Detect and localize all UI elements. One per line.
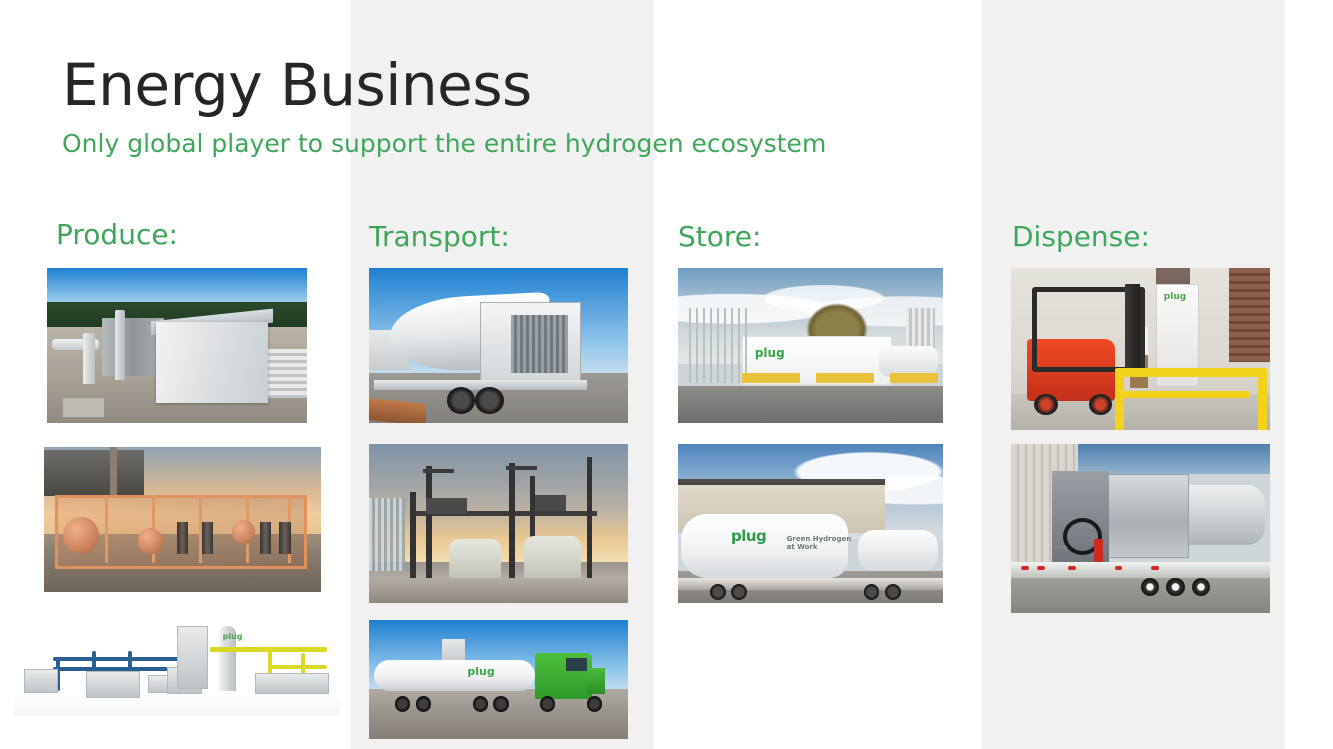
plug-logo-dispenser: plug <box>1164 292 1186 302</box>
plug-logo-store-site: plug <box>755 346 785 360</box>
plug-logo-truck: plug <box>467 665 494 678</box>
column-heading-store: Store: <box>678 222 978 253</box>
photo-plug-green-semi-truck: plug <box>369 620 628 739</box>
photo-hydrogen-plant-3d-render: plug <box>14 618 340 716</box>
column-heading-dispense: Dispense: <box>1012 222 1312 253</box>
column-transport: Transport: <box>369 222 669 253</box>
photo-skid-mounted-electrolyzer-sunset <box>44 447 321 592</box>
photo-forklift-hydrogen-refueling: plug <box>1011 268 1270 430</box>
photo-aerial-hydrogen-production-plant <box>47 268 307 423</box>
column-produce: Produce: <box>56 220 356 251</box>
slide-header: Energy Business Only global player to su… <box>62 54 826 157</box>
photo-loading-gantry-dusk <box>369 444 628 603</box>
photo-cryogenic-tanker-trailer-rear <box>369 268 628 423</box>
photo-plug-storage-tank-green-hydrogen: plug Green Hydrogen at Work <box>678 444 943 603</box>
plug-logo-store-tank: plug <box>731 527 766 545</box>
photo-mobile-hydrogen-fueler-trailer: plug <box>1011 444 1270 613</box>
column-heading-produce: Produce: <box>56 220 356 251</box>
column-dispense: Dispense: <box>1012 222 1312 253</box>
photo-plug-hydrogen-storage-site: plug <box>678 268 943 423</box>
plug-tagline-store-tank: Green Hydrogen at Work <box>787 535 852 553</box>
page-title: Energy Business <box>62 54 826 117</box>
column-heading-transport: Transport: <box>369 222 669 253</box>
column-store: Store: <box>678 222 978 253</box>
page-subtitle: Only global player to support the entire… <box>62 130 826 158</box>
fueler-dispenser-label: plug <box>1055 545 1067 551</box>
plug-logo-render: plug <box>223 632 243 641</box>
